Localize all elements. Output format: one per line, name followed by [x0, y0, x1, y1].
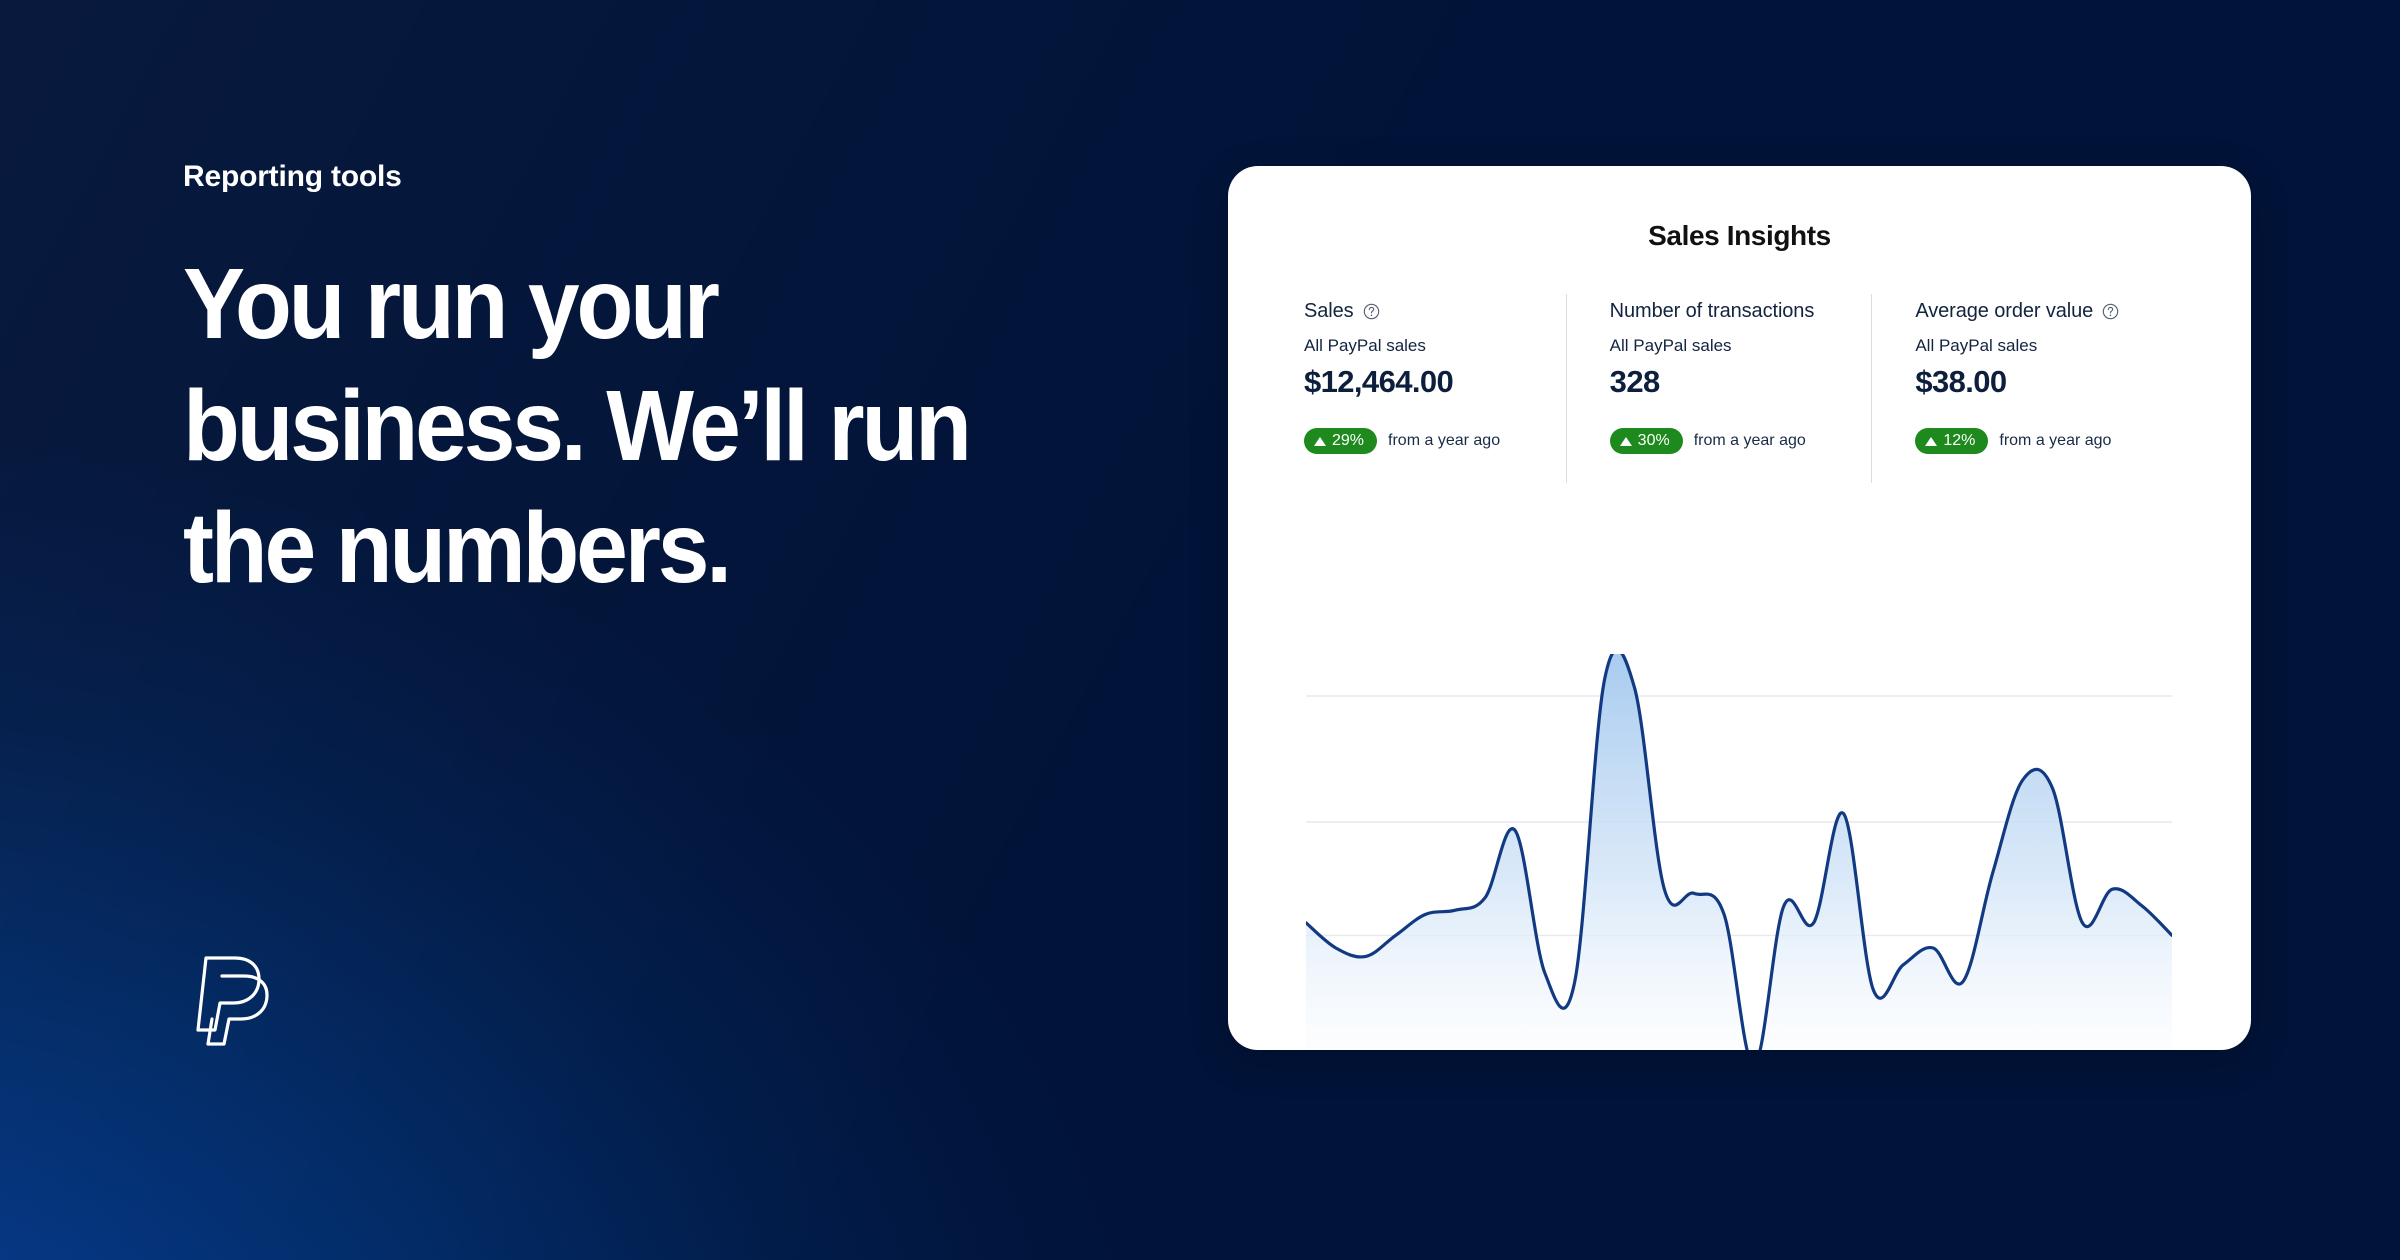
- metric-label: Average order value: [1915, 300, 2153, 323]
- badge-value: 29%: [1332, 433, 1364, 449]
- sales-area-chart: [1306, 654, 2172, 1050]
- arrow-up-icon: [1925, 437, 1937, 446]
- card-title: Sales Insights: [1228, 220, 2251, 252]
- metric-label-text: Number of transactions: [1610, 300, 1815, 323]
- metric-delta: 12% from a year ago: [1915, 428, 2153, 454]
- metric-label-text: Average order value: [1915, 300, 2093, 323]
- delta-note: from a year ago: [1999, 432, 2111, 450]
- metric-average-order-value: Average order value All PayPal sales $38…: [1871, 300, 2177, 475]
- page-title: You run your business. We’ll run the num…: [183, 243, 983, 609]
- badge-value: 30%: [1638, 433, 1670, 449]
- metric-delta: 30% from a year ago: [1610, 428, 1848, 454]
- metrics-row: Sales All PayPal sales $12,464.00 29% fr…: [1228, 300, 2251, 475]
- metric-value: 328: [1610, 364, 1848, 400]
- status-badge: 12%: [1915, 428, 1988, 454]
- metric-label: Sales: [1304, 300, 1542, 323]
- delta-note: from a year ago: [1694, 432, 1806, 450]
- metric-delta: 29% from a year ago: [1304, 428, 1542, 454]
- metric-label: Number of transactions: [1610, 300, 1848, 323]
- paypal-logo: [188, 952, 274, 1048]
- arrow-up-icon: [1620, 437, 1632, 446]
- badge-value: 12%: [1943, 433, 1975, 449]
- help-icon[interactable]: [1363, 303, 1380, 320]
- metric-sublabel: All PayPal sales: [1304, 336, 1542, 356]
- sales-insights-card: Sales Insights Sales All PayPal sales $1…: [1228, 166, 2251, 1050]
- delta-note: from a year ago: [1388, 432, 1500, 450]
- status-badge: 29%: [1304, 428, 1377, 454]
- metric-sales: Sales All PayPal sales $12,464.00 29% fr…: [1304, 300, 1566, 475]
- help-icon[interactable]: [2102, 303, 2119, 320]
- eyebrow-label: Reporting tools: [183, 160, 1063, 193]
- metric-sublabel: All PayPal sales: [1610, 336, 1848, 356]
- metric-sublabel: All PayPal sales: [1915, 336, 2153, 356]
- metric-label-text: Sales: [1304, 300, 1354, 323]
- metric-value: $38.00: [1915, 364, 2153, 400]
- left-panel: Reporting tools You run your business. W…: [183, 160, 1063, 609]
- metric-value: $12,464.00: [1304, 364, 1542, 400]
- metric-number-of-transactions: Number of transactions All PayPal sales …: [1566, 300, 1872, 475]
- status-badge: 30%: [1610, 428, 1683, 454]
- arrow-up-icon: [1314, 437, 1326, 446]
